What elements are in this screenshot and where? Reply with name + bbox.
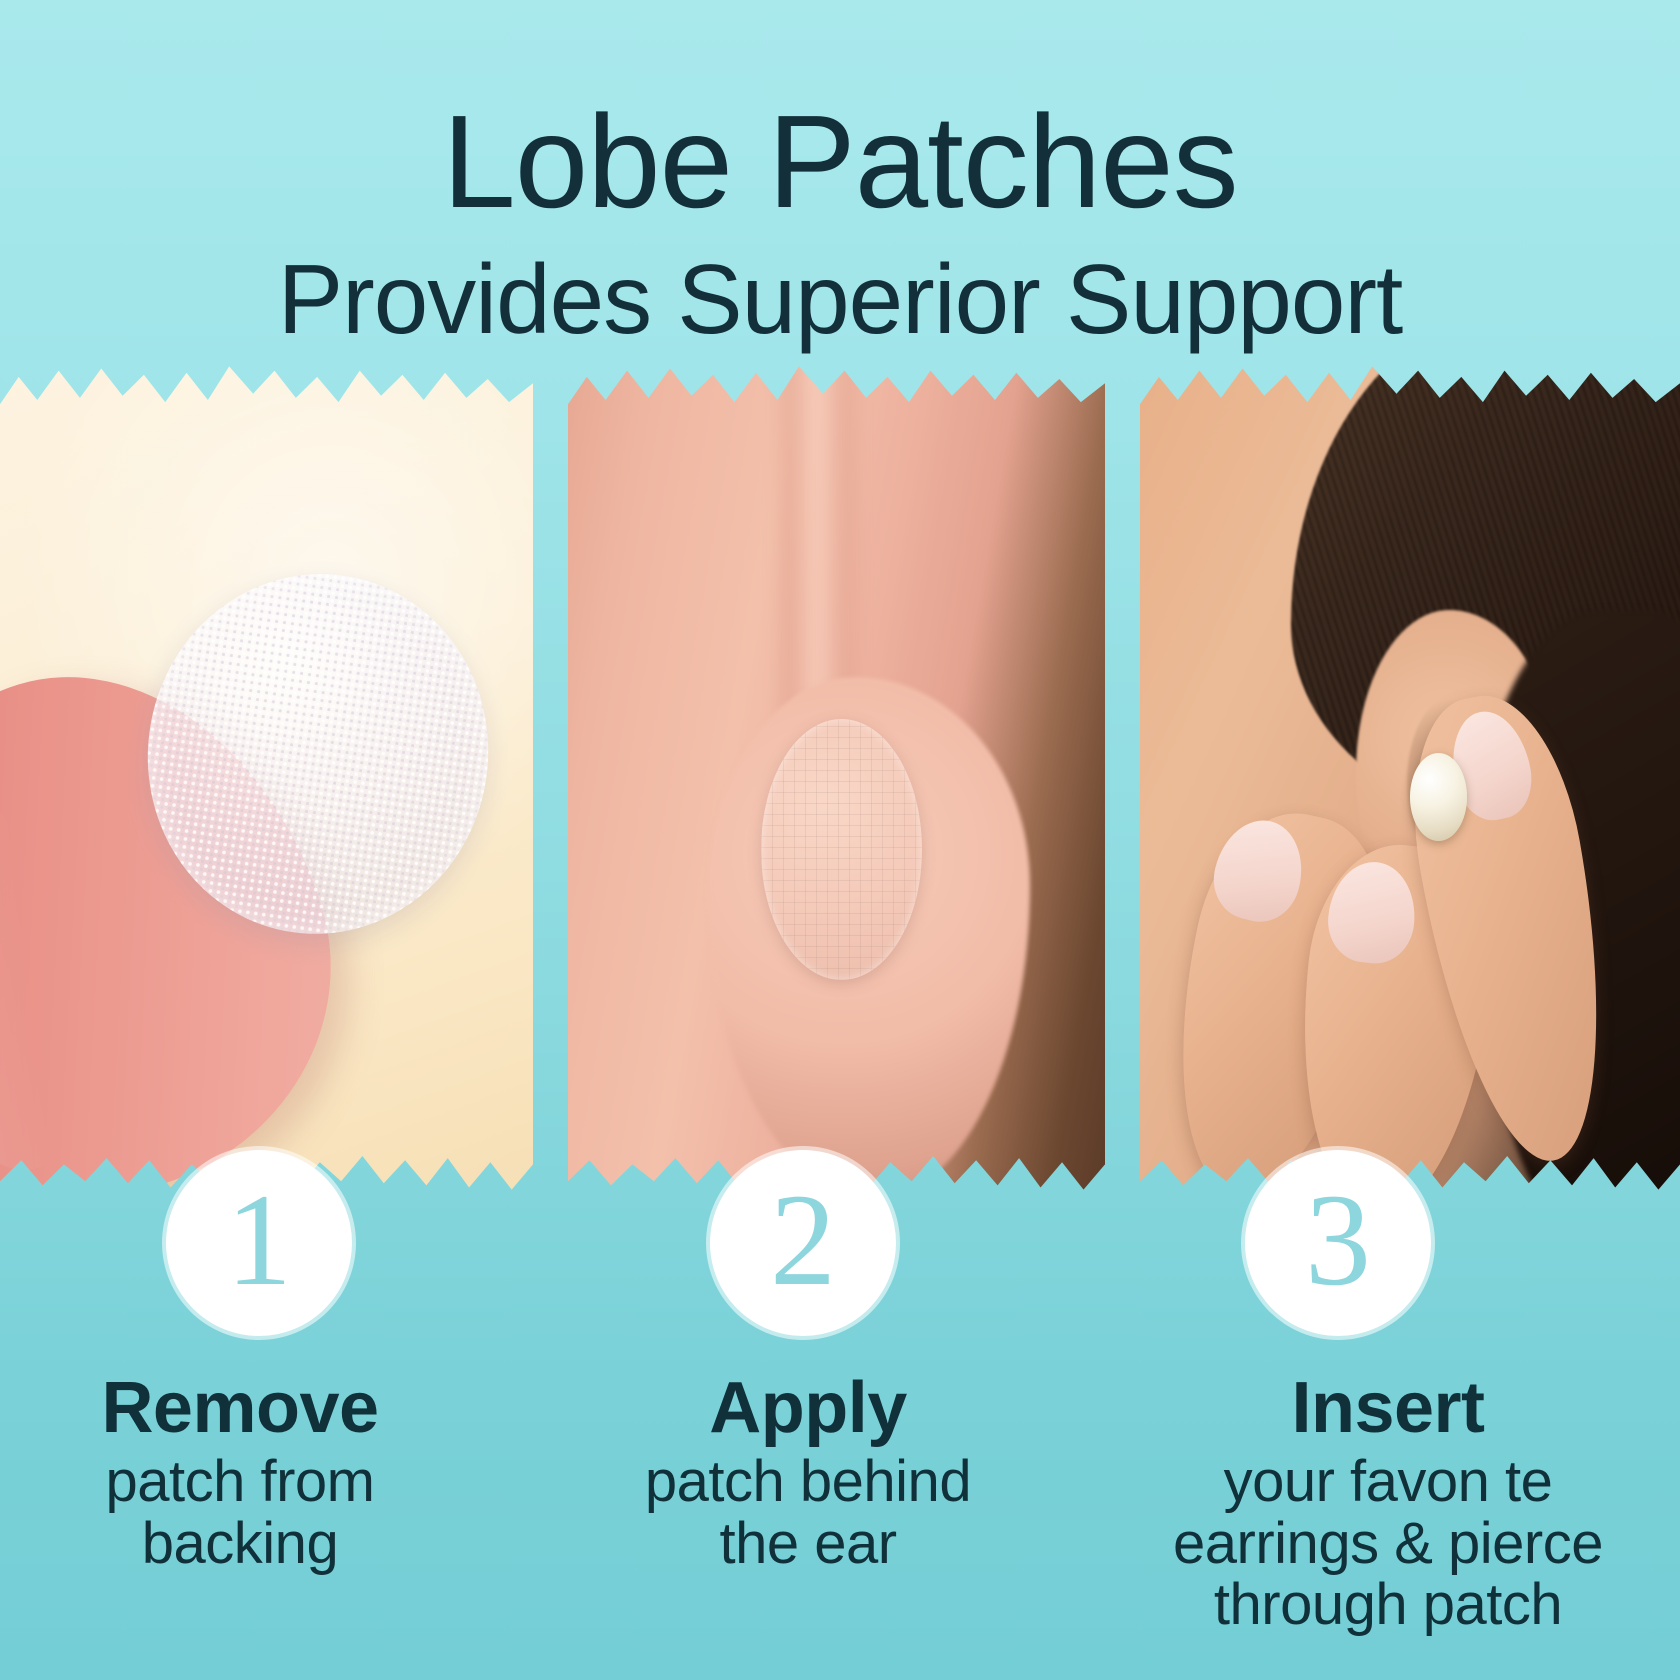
infographic-canvas: Lobe Patches Provides Superior Support bbox=[0, 0, 1680, 1680]
step-description-line: through patch bbox=[1096, 1574, 1680, 1635]
step-description-1: patch from backing bbox=[0, 1451, 480, 1574]
step-number-2: 2 bbox=[770, 1174, 836, 1306]
panel-apply-photo bbox=[568, 358, 1105, 1198]
step-caption-3: Insert your favon te earrings & pierce t… bbox=[1096, 1372, 1680, 1636]
step-description-line: patch from bbox=[0, 1451, 480, 1512]
step-badge-1: 1 bbox=[166, 1150, 352, 1336]
step-heading-1: Remove bbox=[0, 1372, 480, 1445]
headline-block: Lobe Patches Provides Superior Support bbox=[0, 96, 1680, 348]
step-description-2: patch behind the ear bbox=[548, 1451, 1068, 1574]
step-badge-2: 2 bbox=[710, 1150, 896, 1336]
step-heading-2: Apply bbox=[548, 1372, 1068, 1445]
panel-insert bbox=[1140, 358, 1680, 1198]
step-caption-2: Apply patch behind the ear bbox=[548, 1372, 1068, 1574]
panel-apply bbox=[568, 358, 1105, 1198]
step-description-line: your favon te bbox=[1096, 1451, 1680, 1512]
step-description-3: your favon te earrings & pierce through … bbox=[1096, 1451, 1680, 1635]
step-badge-3: 3 bbox=[1245, 1150, 1431, 1336]
panel-remove bbox=[0, 358, 533, 1198]
page-title: Lobe Patches bbox=[0, 96, 1680, 228]
step-description-line: earrings & pierce bbox=[1096, 1513, 1680, 1574]
applied-patch-shape bbox=[761, 719, 922, 979]
panel-insert-photo bbox=[1140, 358, 1680, 1198]
step-number-3: 3 bbox=[1305, 1174, 1371, 1306]
page-subtitle: Provides Superior Support bbox=[0, 250, 1680, 348]
step-description-line: the ear bbox=[548, 1513, 1068, 1574]
panel-remove-photo bbox=[0, 358, 533, 1198]
step-heading-3: Insert bbox=[1096, 1372, 1680, 1445]
step-number-1: 1 bbox=[226, 1174, 292, 1306]
panel-row bbox=[0, 358, 1680, 1198]
step-caption-1: Remove patch from backing bbox=[0, 1372, 480, 1574]
step-description-line: patch behind bbox=[548, 1451, 1068, 1512]
step-description-line: backing bbox=[0, 1513, 480, 1574]
pearl-earring-shape bbox=[1410, 753, 1467, 841]
